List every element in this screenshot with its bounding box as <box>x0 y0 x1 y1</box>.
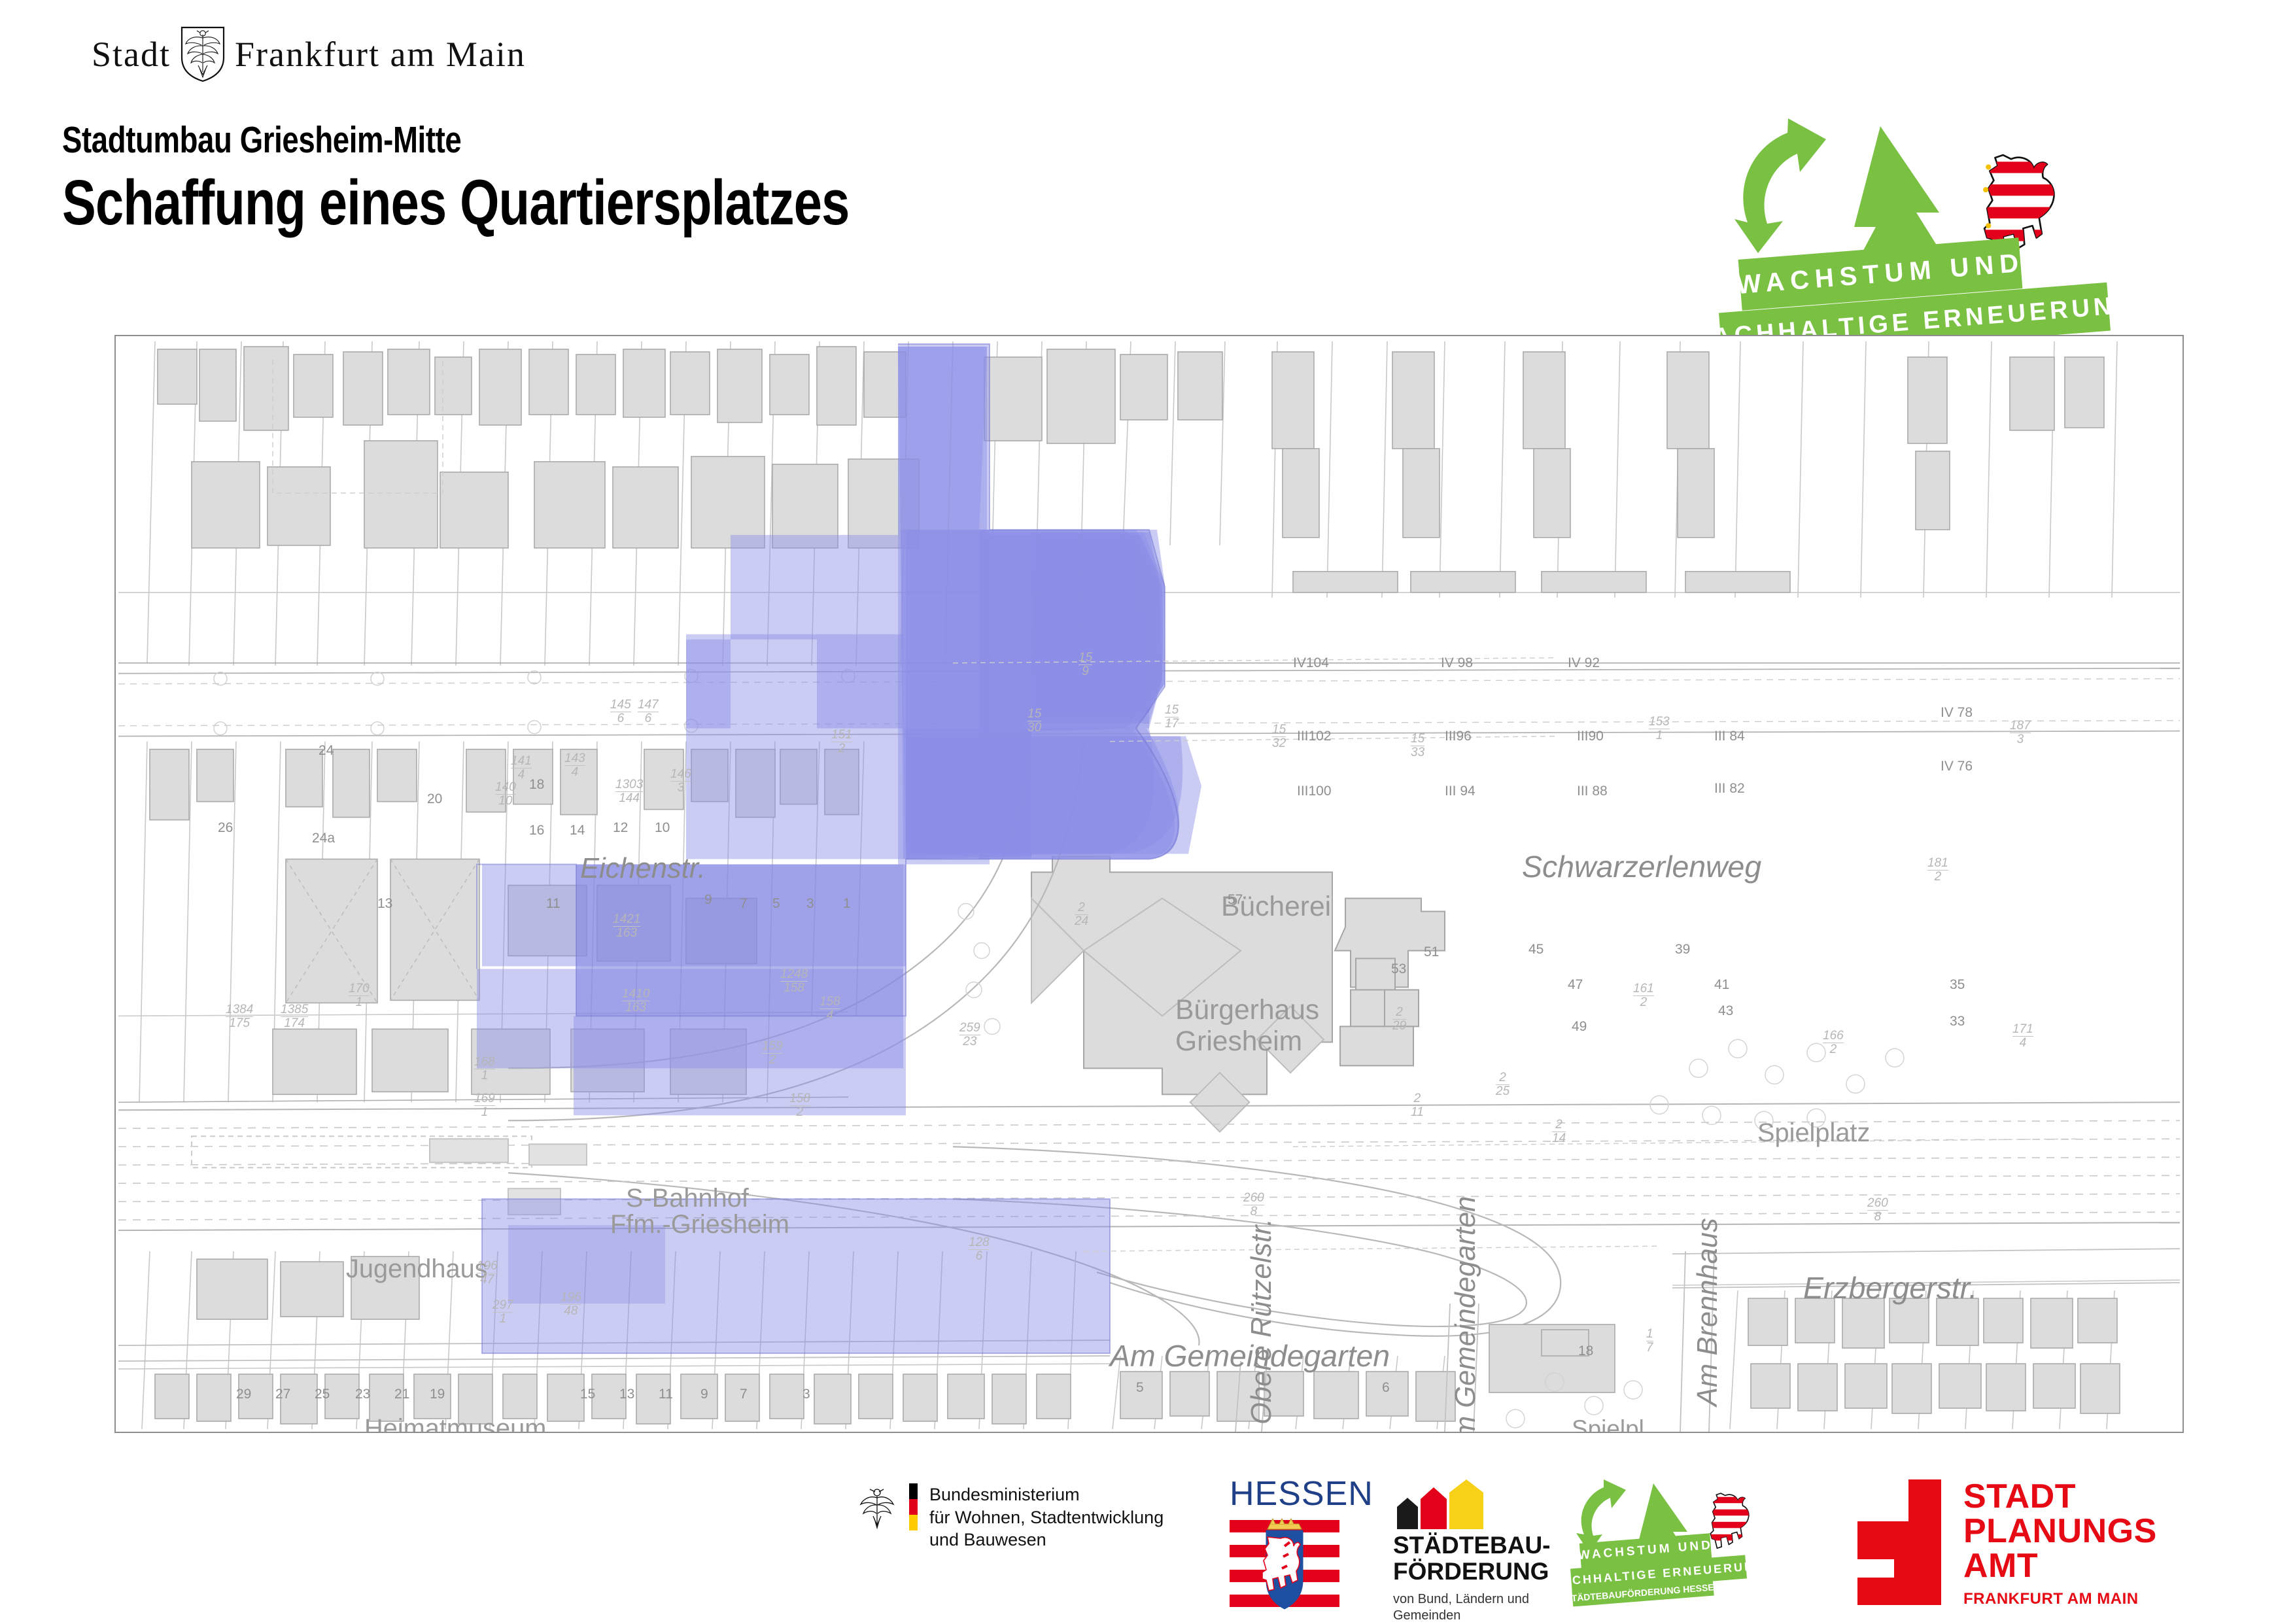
house-number: III 84 <box>1714 729 1745 744</box>
poi-label-jugendhaus: Jugendhaus <box>346 1254 488 1284</box>
house-number: 18 <box>529 777 544 793</box>
parcel-number: 214 <box>1552 1118 1566 1145</box>
page-footer: Bundesministerium für Wohnen, Stadtentwi… <box>0 1465 2295 1622</box>
parcel-number: 1812 <box>1927 857 1948 883</box>
house-number: 29 <box>236 1387 251 1402</box>
house-number: 9 <box>700 1387 708 1402</box>
page-title: Schaffung eines Quartiersplatzes <box>62 169 849 236</box>
house-number: 39 <box>1675 942 1690 958</box>
parcel-number: 1421163 <box>613 913 640 939</box>
parcel-number: 1385174 <box>281 1003 308 1029</box>
parcel-number: 1303144 <box>615 778 643 804</box>
parcel-number: 2608 <box>1867 1197 1888 1223</box>
parcel-number: 1532 <box>1272 723 1286 750</box>
house-number: 24 <box>319 743 334 759</box>
spa-line3: AMT <box>1963 1549 2157 1583</box>
parcel-number: 1701 <box>349 982 370 1009</box>
house-number: 5 <box>772 896 780 912</box>
staedtebau-line1: STÄDTEBAU- <box>1393 1532 1550 1559</box>
frankfurt-eagle-crest-icon <box>180 26 226 82</box>
house-number: 43 <box>1718 1003 1733 1019</box>
parcel-number: 1662 <box>1823 1029 1844 1056</box>
spa-line1: STADT <box>1963 1479 2157 1514</box>
parcel-number: 229 <box>1392 1006 1406 1032</box>
three-houses-icon <box>1393 1521 1490 1532</box>
house-number: III 82 <box>1714 781 1745 797</box>
house-number: 45 <box>1528 942 1544 958</box>
parcel-number: 1612 <box>1633 982 1654 1009</box>
staedtebau-sub1: von Bund, Ländern und <box>1393 1591 1550 1608</box>
stadt-text: Stadt <box>92 35 171 74</box>
federal-eagle-icon <box>857 1483 897 1534</box>
parcel-number: 1463 <box>670 768 691 794</box>
parcel-number: 1533 <box>1411 733 1424 759</box>
house-number: 18 <box>1578 1343 1593 1359</box>
poi-label-heimatmuseum: Heimatmuseum <box>364 1414 546 1433</box>
house-number: IV104 <box>1293 655 1329 671</box>
house-number: 47 <box>1568 977 1583 993</box>
parcel-number: 1512 <box>831 729 852 755</box>
house-number: III96 <box>1445 729 1472 744</box>
house-number: 19 <box>430 1387 445 1402</box>
street-label-schwarzerlenweg: Schwarzerlenweg <box>1522 849 1761 884</box>
parcel-number: 1414 <box>511 755 532 781</box>
house-number: 51 <box>1424 944 1439 960</box>
page-subtitle: Stadtumbau Griesheim-Mitte <box>62 121 849 160</box>
city-logo-word-stadt: Stadt <box>92 37 171 72</box>
street-label-eichenstr: Eichenstr. <box>580 853 706 885</box>
parcel-number: 19648 <box>561 1291 581 1317</box>
poi-label-b-rgerhaus: Bürgerhaus <box>1175 994 1319 1026</box>
hessen-coat-of-arms-icon <box>1230 1606 1339 1617</box>
house-number: 27 <box>275 1387 290 1402</box>
house-number: 16 <box>529 823 544 838</box>
bmwsb-text-block: Bundesministerium für Wohnen, Stadtentwi… <box>929 1483 1164 1551</box>
house-number: 5 <box>1136 1380 1144 1396</box>
hessen-wordmark: HESSEN <box>1230 1474 1373 1513</box>
stadtplanungsamt-mark-icon <box>1838 1479 1941 1608</box>
parcel-number: 1582 <box>789 1092 810 1118</box>
house-number: 53 <box>1391 961 1406 977</box>
parcel-number: 225 <box>1496 1071 1510 1097</box>
parcel-number: 1476 <box>638 699 659 725</box>
stadtplanungsamt-text-block: STADT PLANUNGS AMT FRANKFURT AM MAIN <box>1963 1479 2157 1608</box>
spa-line2: PLANUNGS <box>1963 1514 2157 1549</box>
house-number: 6 <box>1382 1380 1390 1396</box>
house-number: 23 <box>355 1387 370 1402</box>
parcel-number: 1714 <box>2012 1023 2033 1049</box>
parcel-number: 159 <box>1078 651 1092 678</box>
parcel-number: 1410163 <box>622 988 649 1014</box>
bmwsb-line1: Bundesministerium <box>929 1483 1164 1506</box>
parcel-number: 1531 <box>1649 716 1670 742</box>
house-number: 25 <box>315 1387 330 1402</box>
stadtplanungsamt-logo: STADT PLANUNGS AMT FRANKFURT AM MAIN <box>1838 1479 2157 1608</box>
house-number: 20 <box>427 791 442 807</box>
parcel-number: 1530 <box>1027 708 1041 734</box>
house-number: IV 98 <box>1441 655 1473 671</box>
house-number: 7 <box>740 1387 748 1402</box>
parcel-number: 211 <box>1411 1092 1424 1118</box>
house-number: 7 <box>740 896 748 912</box>
poi-label-ffm-griesheim: Ffm.-Griesheim <box>610 1210 789 1239</box>
house-number: III102 <box>1297 729 1332 744</box>
street-label-am-brennhaus: Am Brennhaus <box>1692 1218 1724 1406</box>
house-number: 49 <box>1572 1019 1587 1035</box>
house-number: 26 <box>218 820 233 836</box>
house-number: IV 92 <box>1568 655 1600 671</box>
house-number: 11 <box>659 1387 673 1402</box>
parcel-number: 1873 <box>2010 719 2031 746</box>
staedtebau-line2: FÖRDERUNG <box>1393 1559 1550 1585</box>
wachstum-erneuerung-logo-footer: WACHSTUM UND NACHHALTIGE ERNEUERUNG STÄD… <box>1570 1478 1786 1609</box>
house-number: 13 <box>377 896 392 912</box>
parcel-number: 1584 <box>820 995 840 1022</box>
house-number: 3 <box>806 896 814 912</box>
parcel-number: 1286 <box>969 1236 990 1262</box>
city-logo-word-frankfurt: Frankfurt am Main <box>235 37 526 72</box>
house-number: 35 <box>1950 977 1965 993</box>
poi-label-spielplatz: Spielplatz <box>1757 1118 1870 1148</box>
parcel-number: 25923 <box>959 1022 980 1048</box>
hessen-logo: HESSEN <box>1230 1474 1373 1617</box>
house-number: 9 <box>704 892 712 908</box>
parcel-number: 17 <box>1646 1328 1653 1354</box>
parcel-number: 1384175 <box>226 1003 253 1029</box>
poi-label-griesheim: Griesheim <box>1175 1026 1302 1058</box>
staedtebau-sub2: Gemeinden <box>1393 1608 1550 1624</box>
bmwsb-line3: und Bauwesen <box>929 1529 1164 1551</box>
parcel-number: 1681 <box>474 1056 495 1082</box>
house-number: 14 <box>570 823 585 838</box>
house-number: 21 <box>394 1387 409 1402</box>
parcel-number: 2971 <box>492 1299 513 1325</box>
page-header: Stadt Frankf <box>0 0 2295 307</box>
staedtebau-text-block: STÄDTEBAU- FÖRDERUNG <box>1393 1532 1550 1585</box>
parcel-number: 1592 <box>762 1040 783 1066</box>
house-number: 24a <box>312 831 335 846</box>
street-label-am-gemeindegarten: Am Gemeindegarten <box>1450 1196 1482 1433</box>
german-flag-bar <box>909 1483 918 1534</box>
house-number: III 94 <box>1445 784 1475 799</box>
house-number: 13 <box>619 1387 634 1402</box>
parcel-number: 2608 <box>1243 1192 1264 1218</box>
cadastral-map[interactable]: Eichenstr.SchwarzerlenwegAm Gemeindegart… <box>114 335 2184 1433</box>
title-block: Stadtumbau Griesheim-Mitte Schaffung ein… <box>62 121 1046 236</box>
parcel-number: 1434 <box>564 752 585 778</box>
parcel-number: 1248158 <box>780 968 808 994</box>
parcel-number: 14010 <box>495 781 516 807</box>
parcel-number: 1691 <box>474 1092 495 1118</box>
house-number: III90 <box>1577 729 1604 744</box>
parcel-number: 19647 <box>477 1260 498 1286</box>
house-number: III 88 <box>1577 784 1608 799</box>
bmwsb-logo: Bundesministerium für Wohnen, Stadtentwi… <box>857 1483 1164 1551</box>
house-number: 41 <box>1714 977 1729 993</box>
house-number: 12 <box>613 820 628 836</box>
house-number: 57 <box>1228 892 1243 908</box>
bmwsb-line2: für Wohnen, Stadtentwicklung <box>929 1506 1164 1529</box>
poi-label-s-bahnhof: S-Bahnhof <box>626 1184 749 1213</box>
house-number: 33 <box>1950 1014 1965 1029</box>
staedtebaufoerderung-logo: STÄDTEBAU- FÖRDERUNG von Bund, Ländern u… <box>1393 1478 1550 1624</box>
parcel-number: 224 <box>1075 901 1088 927</box>
city-logo: Stadt Frankf <box>92 26 526 82</box>
house-number: 10 <box>655 820 670 836</box>
house-number: III100 <box>1297 784 1332 799</box>
street-label-erzbergerstr: Erzbergerstr. <box>1803 1270 1977 1305</box>
house-number: 11 <box>546 896 561 912</box>
parcel-number: 1517 <box>1165 704 1179 730</box>
frankfurt-am-main-text: Frankfurt am Main <box>235 35 526 74</box>
staedtebau-subtext: von Bund, Ländern und Gemeinden <box>1393 1591 1550 1624</box>
house-number: 1 <box>843 896 851 912</box>
street-label-obere-r-tzelstr: Obere Rützelstr. <box>1246 1218 1278 1425</box>
recycle-arrow-icon <box>1734 118 1826 253</box>
house-number: IV 78 <box>1941 705 1973 721</box>
parcel-number: 1456 <box>610 699 631 725</box>
spa-subline: FRANKFURT AM MAIN <box>1963 1590 2157 1608</box>
house-number: 15 <box>580 1387 595 1402</box>
house-number: IV 76 <box>1941 759 1973 774</box>
house-number: 3 <box>802 1387 810 1402</box>
poi-label-spielpl: Spielpl. <box>1572 1415 1651 1433</box>
